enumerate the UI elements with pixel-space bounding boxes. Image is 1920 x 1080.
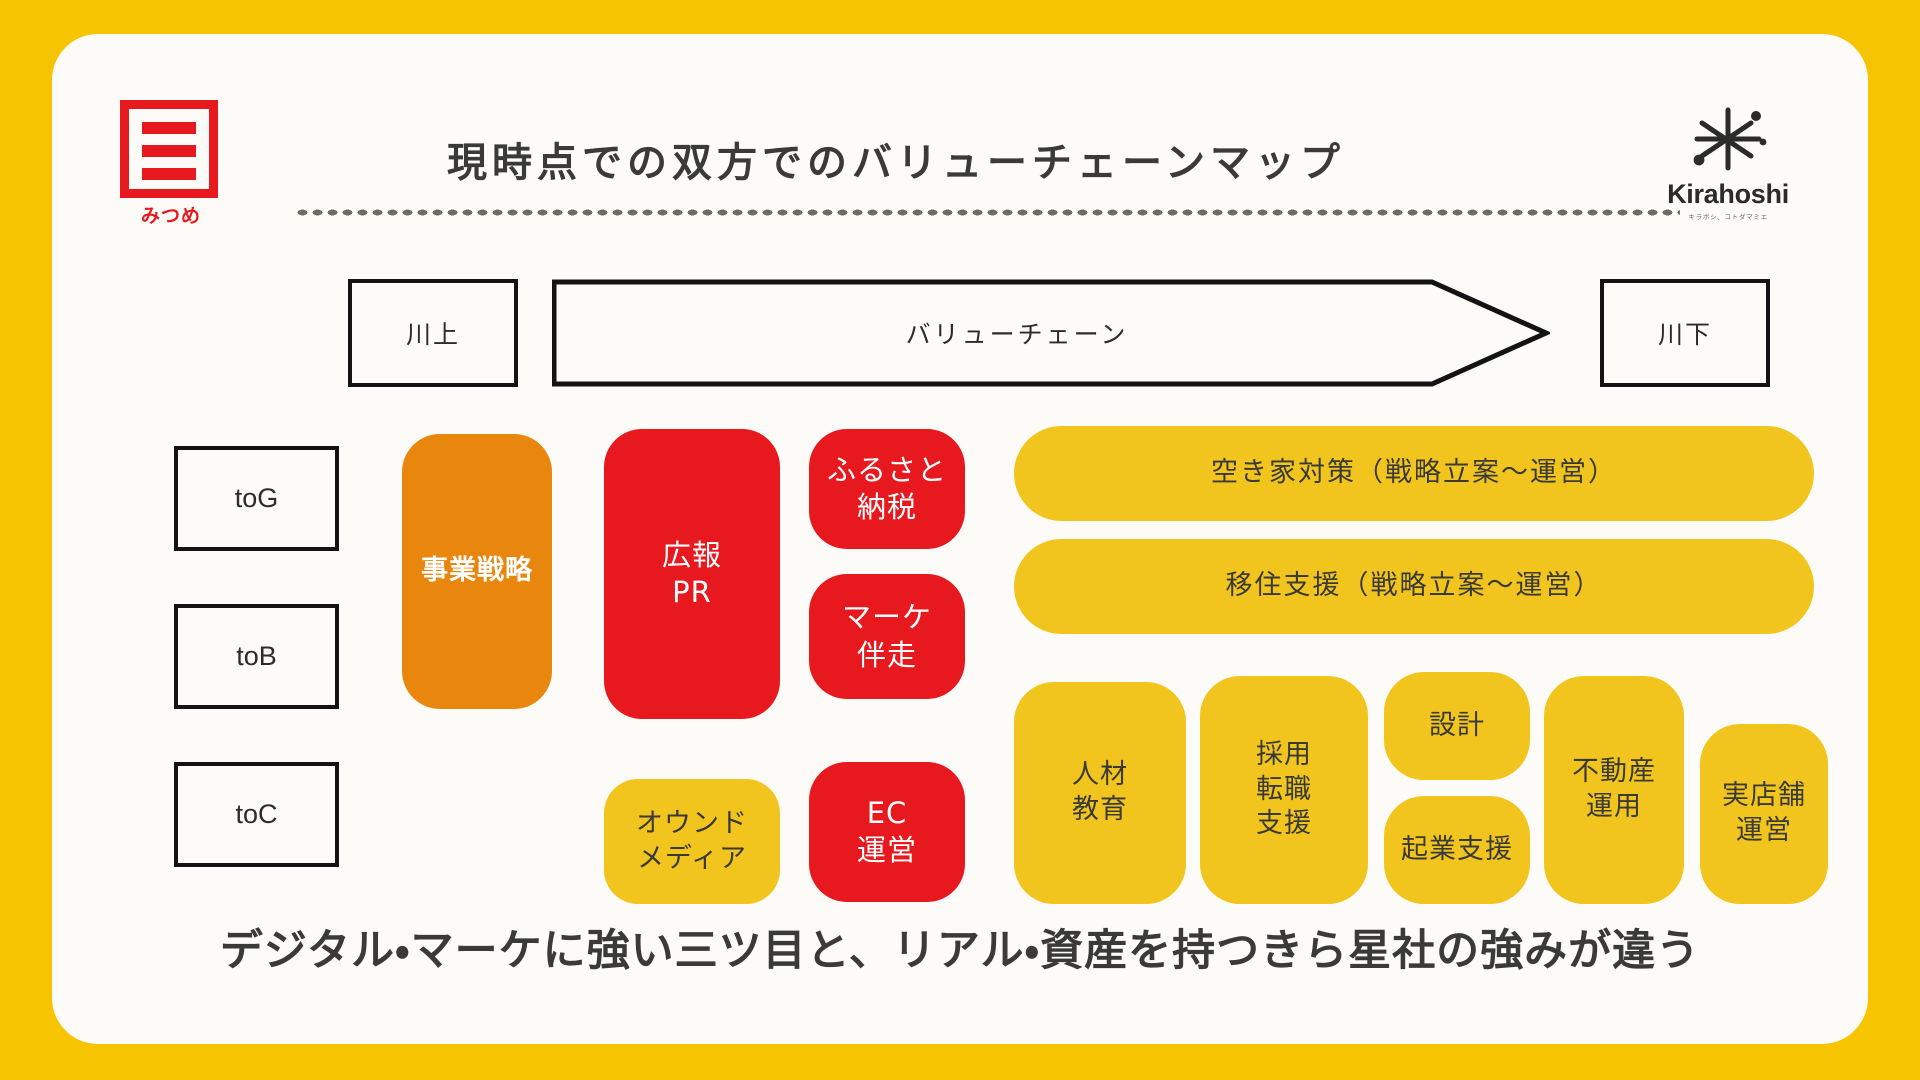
mitsume-square-icon	[120, 100, 218, 198]
node-ec-operation[interactable]: EC 運営	[809, 762, 965, 902]
kirahoshi-wordmark: Kirahoshi	[1648, 179, 1808, 210]
mitsume-logo: みつめ	[114, 100, 228, 230]
page-title: 現時点での双方でのバリューチェーンマップ	[447, 130, 1345, 188]
node-label: EC 運営	[857, 795, 917, 869]
node-vacant-house-measures[interactable]: 空き家対策（戦略立案〜運営）	[1014, 426, 1814, 521]
node-label: 空き家対策（戦略立案〜運営）	[1211, 456, 1617, 491]
node-label: 起業支援	[1401, 833, 1513, 868]
value-chain-arrow: バリューチェーン	[552, 279, 1550, 387]
node-label: 採用 転職 支援	[1256, 738, 1312, 842]
node-label: 事業戦略	[421, 554, 533, 589]
node-label: 実店舗 運営	[1722, 779, 1806, 848]
node-pr[interactable]: 広報 PR	[604, 429, 780, 719]
mitsume-bar-middle	[142, 145, 196, 157]
node-business-strategy[interactable]: 事業戦略	[402, 434, 552, 709]
node-startup-support[interactable]: 起業支援	[1384, 796, 1530, 904]
value-chain-matrix: toG toB toC 事業戦略 広報 PR オウンド メディア ふるさと 納税…	[52, 424, 1868, 904]
chain-upstream-box: 川上	[348, 279, 518, 387]
mitsume-wordmark: みつめ	[114, 201, 228, 228]
node-label: マーケ 伴走	[842, 599, 932, 673]
node-label: 設計	[1429, 709, 1485, 744]
node-owned-media[interactable]: オウンド メディア	[604, 779, 780, 904]
node-migration-support[interactable]: 移住支援（戦略立案〜運営）	[1014, 539, 1814, 634]
chain-downstream-box: 川下	[1600, 279, 1770, 387]
node-label: 不動産 運用	[1572, 755, 1656, 824]
slide-caption: デジタル・マーケに強い三ツ目と、リアル・資産を持つきら星社の強みが違う	[52, 916, 1868, 978]
node-label: オウンド メディア	[636, 807, 748, 876]
audience-box-tob: toB	[174, 604, 339, 709]
audience-box-tog: toG	[174, 446, 339, 551]
node-design[interactable]: 設計	[1384, 672, 1530, 780]
node-label: 人材 教育	[1072, 758, 1128, 827]
kirahoshi-logo: Kirahoshi キラボシ、コトダマミエ	[1648, 106, 1808, 230]
mitsume-bar-bottom	[142, 168, 196, 180]
kirahoshi-starburst-icon	[1685, 106, 1771, 172]
kirahoshi-tagline: キラボシ、コトダマミエ	[1644, 211, 1812, 221]
node-label: ふるさと 納税	[827, 452, 947, 526]
slide-card: みつめ 現時点での双方でのバリューチェーンマップ Kirahoshi キラボシ、…	[52, 34, 1868, 1044]
header-dotted-rule	[295, 208, 1680, 217]
node-marketing-support[interactable]: マーケ 伴走	[809, 574, 965, 699]
node-furusato-nozei[interactable]: ふるさと 納税	[809, 429, 965, 549]
node-label: 広報 PR	[662, 537, 722, 611]
node-label: 移住支援（戦略立案〜運営）	[1226, 569, 1603, 604]
node-real-estate-management[interactable]: 不動産 運用	[1544, 676, 1684, 904]
value-chain-arrow-label: バリューチェーン	[552, 279, 1482, 387]
value-chain-row: 川上 バリューチェーン 川下	[52, 279, 1868, 391]
node-physical-store-operation[interactable]: 実店舗 運営	[1700, 724, 1828, 904]
node-human-resource-education[interactable]: 人材 教育	[1014, 682, 1186, 904]
mitsume-bar-top	[142, 122, 196, 134]
node-recruiting-career-support[interactable]: 採用 転職 支援	[1200, 676, 1368, 904]
audience-box-toc: toC	[174, 762, 339, 867]
slide-header: みつめ 現時点での双方でのバリューチェーンマップ Kirahoshi キラボシ、…	[52, 34, 1868, 224]
